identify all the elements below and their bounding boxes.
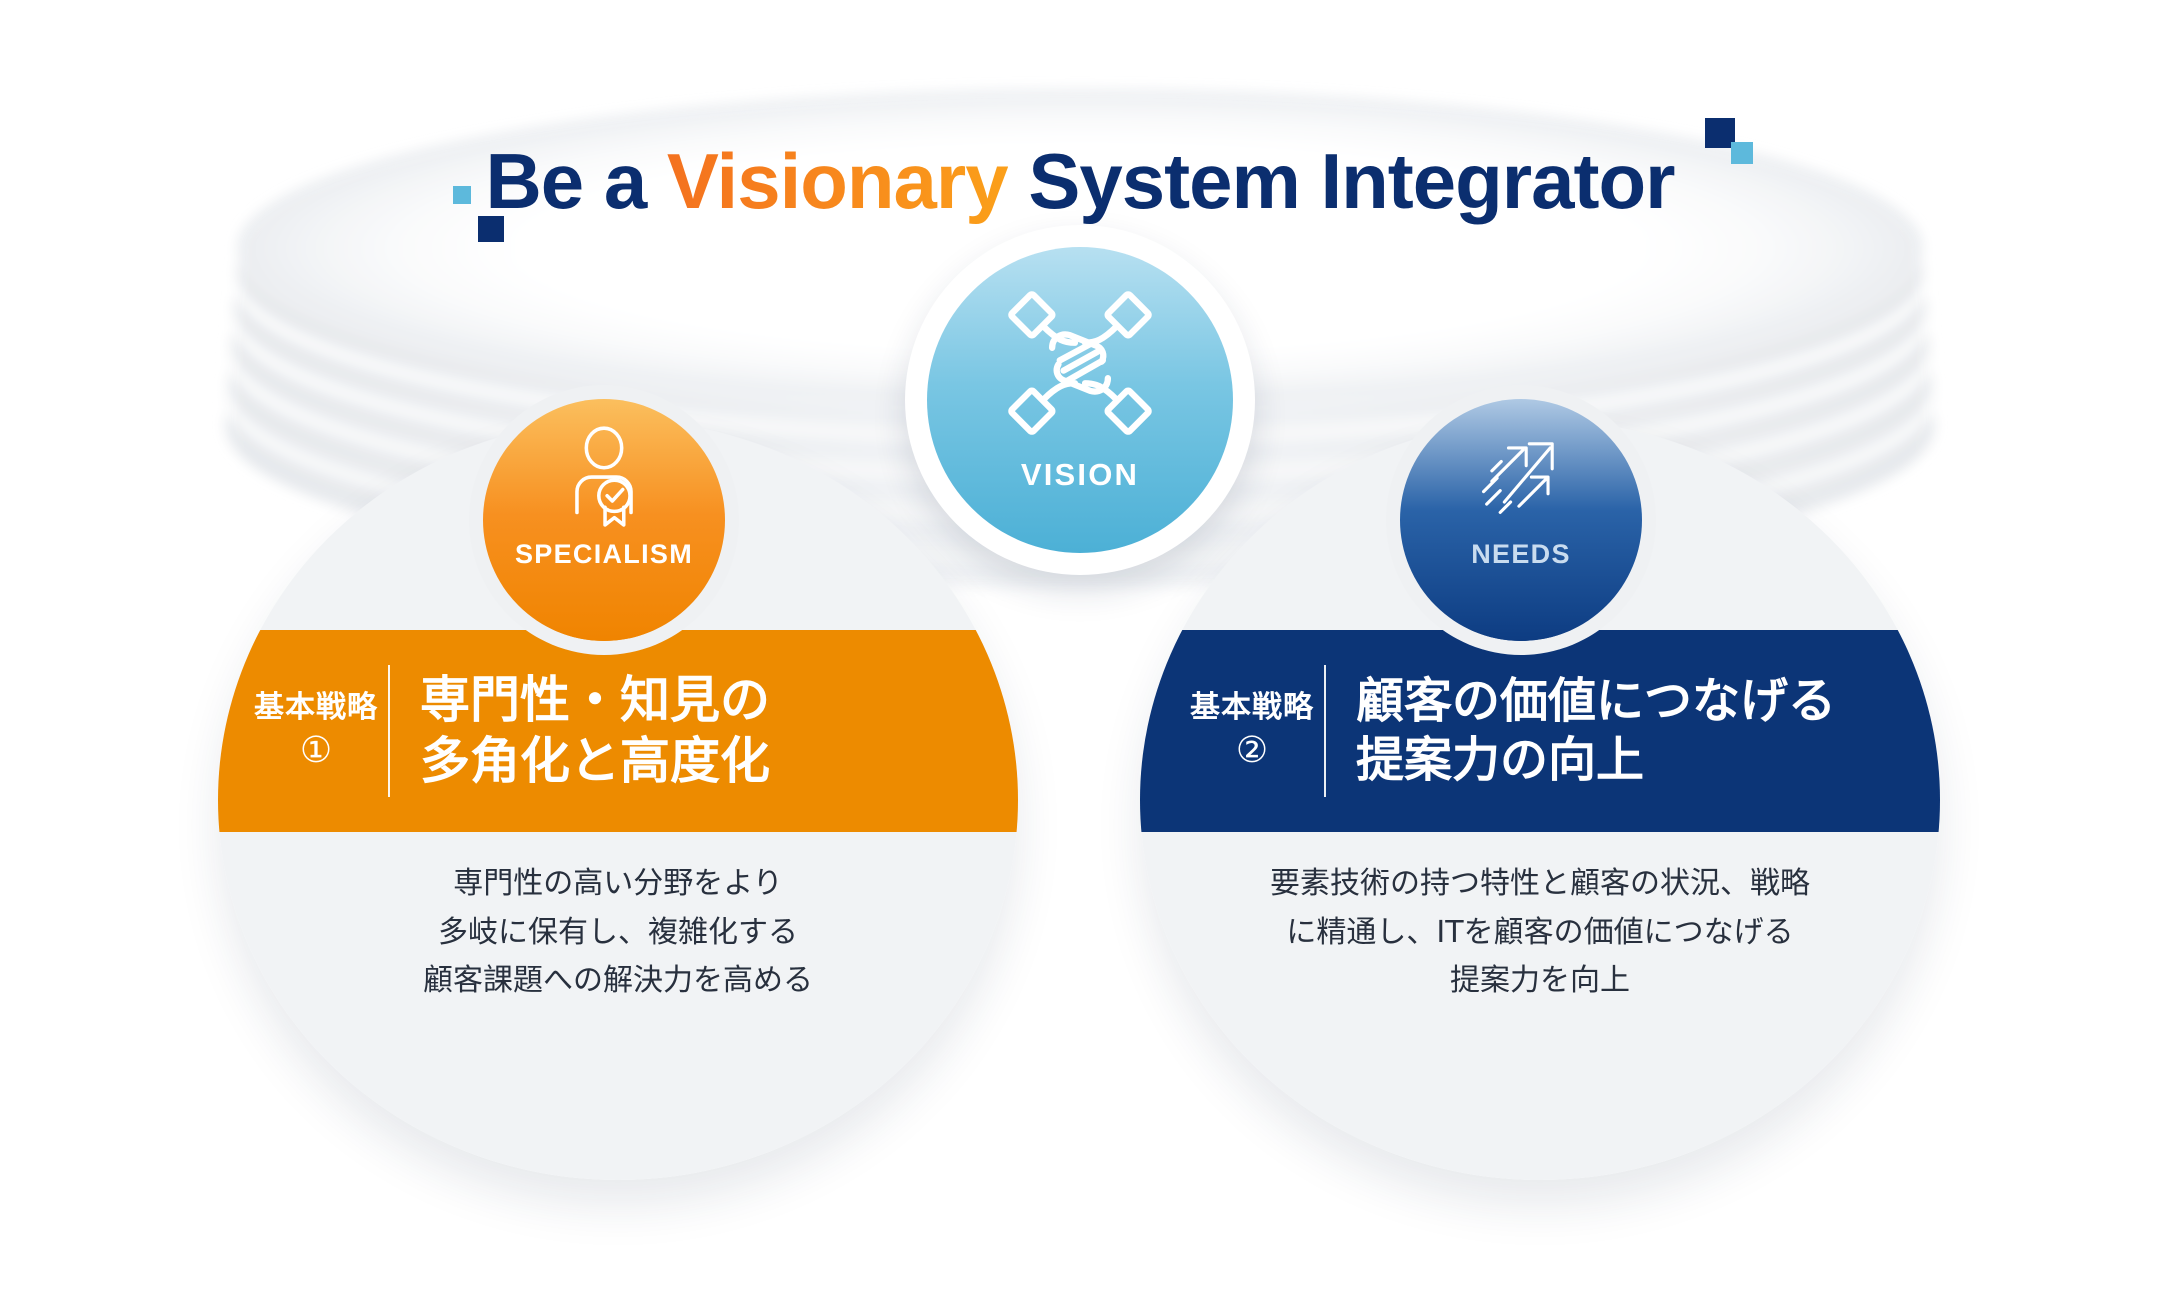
strategy-label-2: 基本戦略 ② xyxy=(1184,689,1320,773)
strategy-description-1: 専門性の高い分野をより 多岐に保有し、複雑化する 顧客課題への解決力を高める xyxy=(218,860,1018,1006)
strategy-heading-2: 顧客の価値につなげる 提案力の向上 xyxy=(1356,672,1940,789)
badge-specialism: SPECIALISM xyxy=(483,399,725,641)
strategy-band-1: 基本戦略 ① 専門性・知見の 多角化と高度化 xyxy=(218,630,1018,832)
badge-label-specialism: SPECIALISM xyxy=(515,539,693,570)
title-part-visionary: Visionary xyxy=(667,137,1008,225)
page-title: Be a Visionary System Integrator xyxy=(0,142,2160,220)
band-divider-1 xyxy=(388,665,390,797)
badge-needs: NEEDS xyxy=(1400,399,1642,641)
vision-circle-inner: VISION xyxy=(927,247,1233,553)
vision-circle: VISION xyxy=(905,225,1255,575)
strategy-heading-1: 専門性・知見の 多角化と高度化 xyxy=(420,670,1018,792)
vision-label: VISION xyxy=(1021,457,1139,493)
strategy-band-2: 基本戦略 ② 顧客の価値につなげる 提案力の向上 xyxy=(1140,630,1940,832)
rising-arrows-icon xyxy=(1469,423,1573,527)
band-divider-2 xyxy=(1324,665,1326,797)
badge-label-needs: NEEDS xyxy=(1471,539,1571,570)
title-part-system-integrator: System Integrator xyxy=(1028,137,1674,225)
decorative-square-navy-leading xyxy=(478,216,504,242)
decorative-square-blue-trailing xyxy=(1731,142,1753,164)
diagram-canvas: Be a Visionary System Integrator 基本戦略 ① … xyxy=(0,0,2160,1312)
title-part-be-a: Be a xyxy=(485,137,646,225)
strategy-label-1: 基本戦略 ① xyxy=(248,689,384,773)
strategy-description-2: 要素技術の持つ特性と顧客の状況、戦略 に精通し、ITを顧客の価値につなげる 提案… xyxy=(1140,860,1940,1006)
decorative-square-blue-leading xyxy=(453,186,471,204)
person-certificate-icon xyxy=(552,423,656,527)
teamwork-hands-icon xyxy=(1004,287,1156,439)
